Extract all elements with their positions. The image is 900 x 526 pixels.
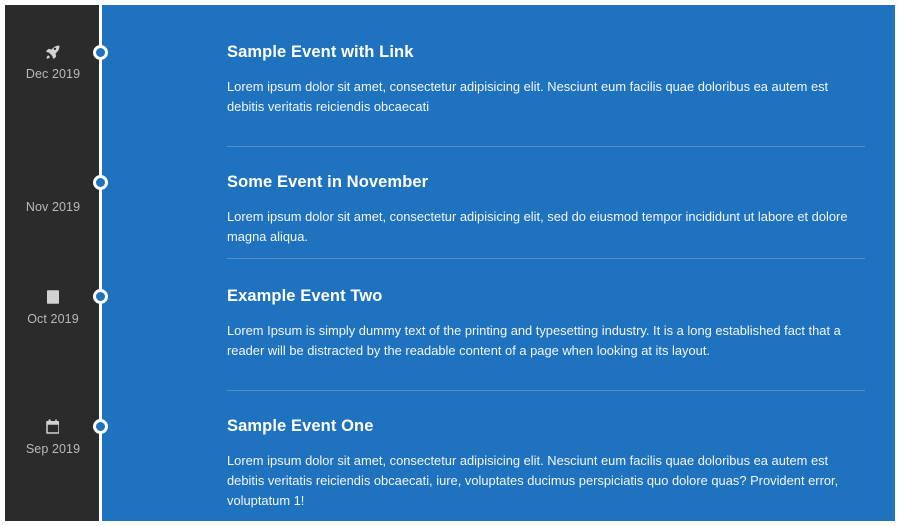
timeline-meta-3: Sep 2019 (5, 418, 101, 456)
timeline-event-1[interactable]: Some Event in November Lorem ipsum dolor… (227, 173, 865, 247)
timeline-vertical-line (99, 5, 102, 521)
timeline-dot-1[interactable] (93, 175, 108, 190)
timeline-event-3[interactable]: Sample Event One Lorem ipsum dolor sit a… (227, 417, 865, 511)
timeline-event-body-1: Lorem ipsum dolor sit amet, consectetur … (227, 207, 865, 247)
timeline-rail: Dec 2019 Nov 2019 Oct 2019 (5, 5, 101, 521)
timeline-date-2: Oct 2019 (5, 312, 101, 326)
timeline-event-body-0: Lorem ipsum dolor sit amet, consectetur … (227, 77, 865, 117)
book-icon (44, 288, 62, 306)
timeline-content: Sample Event with Link Lorem ipsum dolor… (101, 5, 895, 521)
timeline-divider-1 (227, 258, 865, 259)
timeline-widget: Dec 2019 Nov 2019 Oct 2019 (5, 5, 895, 521)
timeline-event-title-0[interactable]: Sample Event with Link (227, 43, 865, 63)
timeline-divider-0 (227, 146, 865, 147)
timeline-event-title-3[interactable]: Sample Event One (227, 417, 865, 437)
timeline-meta-1: Nov 2019 (5, 200, 101, 214)
timeline-divider-2 (227, 390, 865, 391)
timeline-event-body-2: Lorem Ipsum is simply dummy text of the … (227, 321, 865, 361)
timeline-event-body-3: Lorem ipsum dolor sit amet, consectetur … (227, 451, 865, 511)
timeline-date-0: Dec 2019 (5, 67, 101, 81)
timeline-dot-2[interactable] (93, 289, 108, 304)
timeline-meta-2: Oct 2019 (5, 288, 101, 326)
timeline-date-3: Sep 2019 (5, 442, 101, 456)
timeline-dot-3[interactable] (93, 419, 108, 434)
timeline-event-2[interactable]: Example Event Two Lorem Ipsum is simply … (227, 287, 865, 361)
rocket-icon (44, 43, 62, 61)
timeline-dot-0[interactable] (93, 45, 108, 60)
timeline-page: Dec 2019 Nov 2019 Oct 2019 (0, 0, 900, 526)
timeline-event-title-1[interactable]: Some Event in November (227, 173, 865, 193)
timeline-date-1: Nov 2019 (5, 200, 101, 214)
timeline-event-title-2[interactable]: Example Event Two (227, 287, 865, 307)
timeline-event-0[interactable]: Sample Event with Link Lorem ipsum dolor… (227, 43, 865, 117)
timeline-meta-0: Dec 2019 (5, 43, 101, 81)
calendar-icon (44, 418, 62, 436)
